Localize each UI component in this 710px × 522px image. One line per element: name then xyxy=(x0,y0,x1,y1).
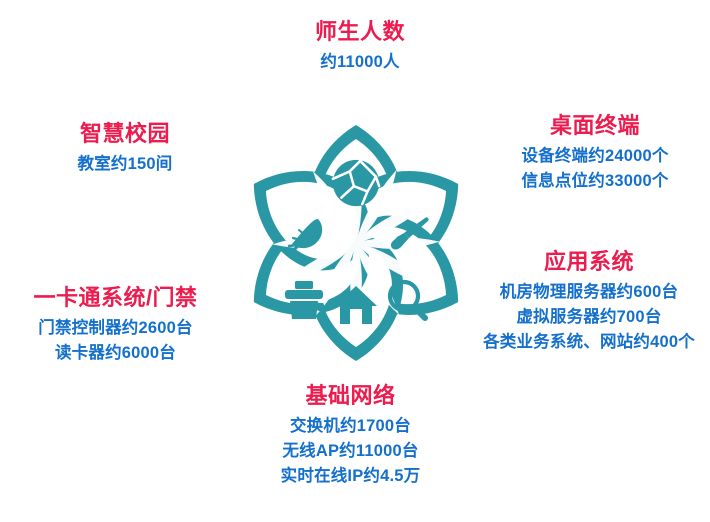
block-line-desktop-0: 设备终端约24000个 xyxy=(484,146,706,167)
block-line-network-2: 实时在线IP约4.5万 xyxy=(228,466,473,487)
block-line-network-0: 交换机约1700台 xyxy=(228,416,473,437)
label-block-desktop: 桌面终端 设备终端约24000个 信息点位约33000个 xyxy=(484,112,706,192)
block-title-network: 基础网络 xyxy=(228,382,473,410)
label-block-network: 基础网络 交换机约1700台 无线AP约11000台 实时在线IP约4.5万 xyxy=(228,382,473,487)
block-line-campus-0: 教室约150间 xyxy=(30,154,220,175)
block-title-campus: 智慧校园 xyxy=(30,120,220,148)
label-block-campus: 智慧校园 教室约150间 xyxy=(30,120,220,175)
flower-graphic xyxy=(206,93,506,385)
label-block-students: 师生人数 约11000人 xyxy=(240,18,480,73)
globe-icon xyxy=(333,160,379,206)
label-block-card-access: 一卡通系统/门禁 门禁控制器约2600台 读卡器约6000台 xyxy=(8,284,223,364)
block-line-card-access-0: 门禁控制器约2600台 xyxy=(8,318,223,339)
infographic-canvas: 师生人数 约11000人 智慧校园 教室约150间 一卡通系统/门禁 门禁控制器… xyxy=(0,0,710,522)
block-line-students-0: 约11000人 xyxy=(240,52,480,73)
block-title-card-access: 一卡通系统/门禁 xyxy=(8,284,223,312)
block-line-network-1: 无线AP约11000台 xyxy=(228,441,473,462)
block-line-desktop-1: 信息点位约33000个 xyxy=(484,171,706,192)
block-title-students: 师生人数 xyxy=(240,18,480,46)
block-line-card-access-1: 读卡器约6000台 xyxy=(8,343,223,364)
block-title-desktop: 桌面终端 xyxy=(484,112,706,140)
